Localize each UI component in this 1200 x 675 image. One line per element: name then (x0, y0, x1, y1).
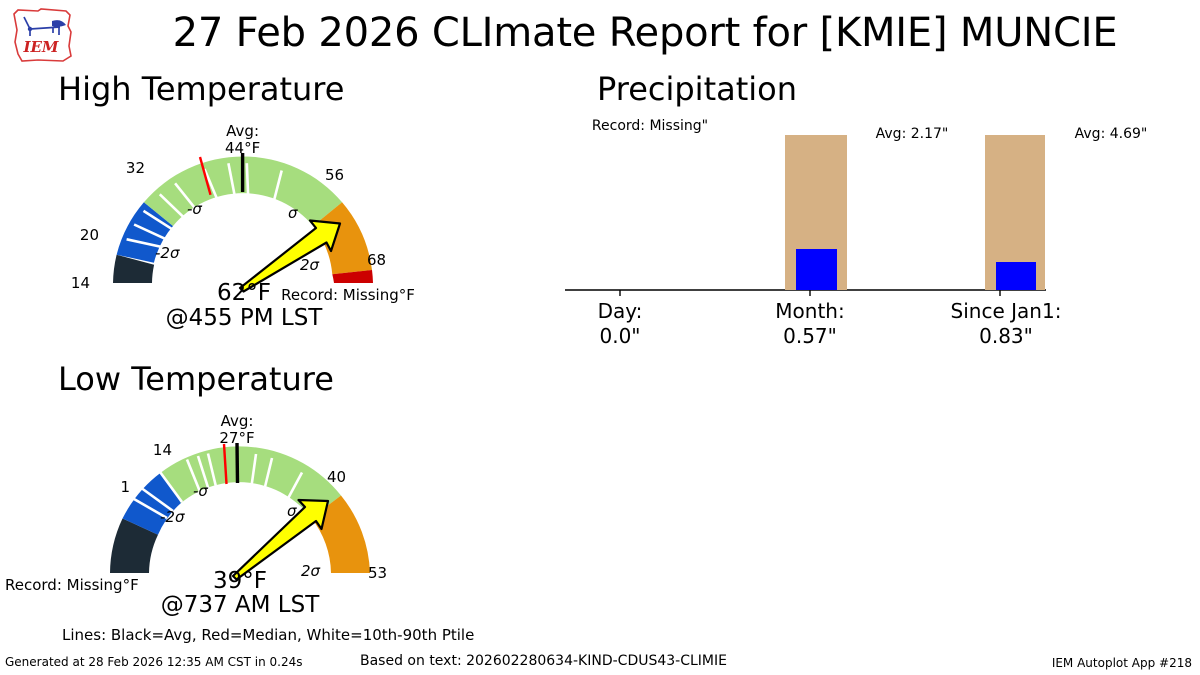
low-gauge-reading: 39°F (213, 568, 267, 594)
low-temperature-gauge: 1 14 40 53 -2σ -σ σ 2σ Avg: 27°F 39°F @7… (0, 400, 517, 630)
high-gauge-avg-label: Avg: (226, 122, 259, 140)
low-gauge-reading-time: @737 AM LST (161, 592, 321, 618)
low-gauge-avg-value: 27°F (219, 429, 254, 447)
high-gauge-sigma-pos1: σ (288, 204, 298, 222)
high-gauge-record: Record: Missing°F (281, 286, 415, 304)
precip-avg-annotation-month: Avg: 2.17" (876, 126, 949, 142)
iem-logo: IEM (8, 6, 80, 64)
precip-record-annotation: Record: Missing" (592, 118, 708, 134)
footer-based-on: Based on text: 202602280634-KIND-CDUS43-… (360, 653, 727, 669)
precip-value-month: 0.57" (783, 324, 837, 348)
precipitation-title: Precipitation (597, 70, 797, 108)
station-dot-icon (28, 27, 32, 31)
precip-category-month: Month: (775, 299, 844, 323)
precip-group-day: Record: Missing" (592, 118, 708, 134)
high-gauge-svg: 14 20 32 56 68 -2σ -σ σ 2σ Avg: 44°F 62°… (0, 110, 520, 340)
footer-app-id: IEM Autoplot App #218 (1052, 656, 1192, 670)
low-gauge-tick-53: 53 (368, 564, 387, 582)
high-gauge-avg-value: 44°F (225, 139, 260, 157)
page-title: 27 Feb 2026 CLImate Report for [KMIE] MU… (100, 8, 1190, 58)
precip-obs-bar-sincejan1 (996, 262, 1036, 290)
low-temperature-title: Low Temperature (58, 360, 334, 398)
high-temperature-gauge: 14 20 32 56 68 -2σ -σ σ 2σ Avg: 44°F 62°… (0, 110, 520, 340)
precip-value-sincejan1: 0.83" (979, 324, 1033, 348)
low-gauge-tick-40: 40 (327, 468, 346, 486)
low-gauge-tick-1: 1 (120, 478, 130, 496)
iem-logo-svg: IEM (8, 6, 80, 64)
iem-wordmark: IEM (22, 38, 58, 56)
high-gauge-tick-56: 56 (325, 166, 344, 184)
low-gauge-sigma-neg2: -2σ (160, 508, 185, 526)
precip-avg-annotation-sincejan1: Avg: 4.69" (1075, 126, 1148, 142)
precip-group-month: Avg: 2.17" (785, 126, 948, 290)
low-gauge-bands (110, 446, 370, 573)
precip-group-sincejan1: Avg: 4.69" (985, 126, 1147, 290)
precipitation-svg: Record: Missing" Avg: 2.17" Avg: 4.69" D… (560, 110, 1190, 360)
low-gauge-record: Record: Missing°F (5, 576, 139, 594)
high-gauge-tick-14: 14 (71, 274, 90, 292)
low-gauge-sigma-pos2: 2σ (301, 562, 321, 580)
precip-value-day: 0.0" (599, 324, 640, 348)
precip-category-sincejan1: Since Jan1: (951, 299, 1062, 323)
low-gauge-avg-line (237, 443, 238, 483)
high-gauge-reading: 62°F (217, 280, 271, 306)
high-temperature-title: High Temperature (58, 70, 344, 108)
footer-generated: Generated at 28 Feb 2026 12:35 AM CST in… (5, 655, 303, 669)
high-gauge-sigma-neg2: -2σ (155, 244, 180, 262)
low-gauge-svg: 1 14 40 53 -2σ -σ σ 2σ Avg: 27°F 39°F @7… (0, 400, 517, 630)
precipitation-chart: Record: Missing" Avg: 2.17" Avg: 4.69" D… (560, 110, 1190, 360)
low-gauge-tick-14: 14 (153, 441, 172, 459)
low-gauge-sigma-neg1: -σ (193, 482, 208, 500)
precip-category-day: Day: (598, 299, 643, 323)
high-gauge-reading-time: @455 PM LST (166, 305, 324, 331)
high-gauge-sigma-pos2: 2σ (300, 256, 320, 274)
high-gauge-tick-68: 68 (367, 251, 386, 269)
high-gauge-sigma-neg1: -σ (187, 200, 202, 218)
legend-lines-note: Lines: Black=Avg, Red=Median, White=10th… (62, 626, 474, 644)
high-gauge-tick-32: 32 (126, 159, 145, 177)
precip-obs-bar-month (796, 249, 837, 290)
high-gauge-tick-20: 20 (80, 226, 99, 244)
low-gauge-avg-label: Avg: (221, 412, 254, 430)
